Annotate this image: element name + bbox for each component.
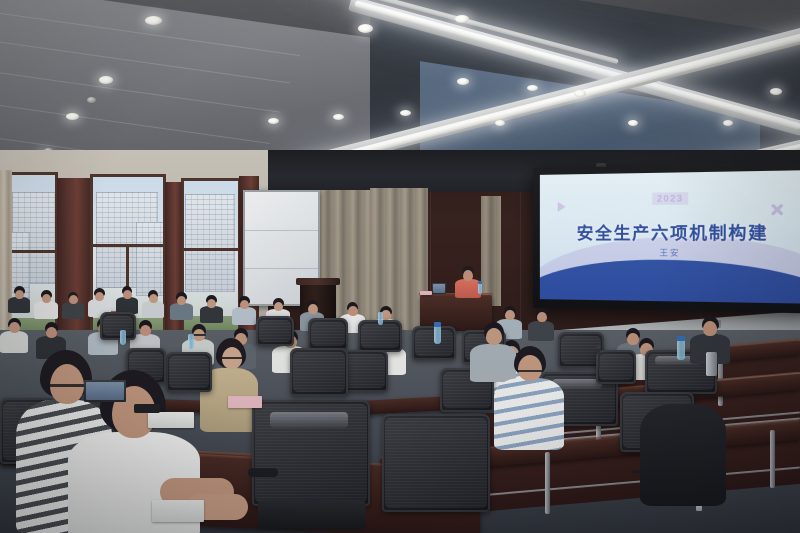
slide-title: 安全生产六项机制构建 [577,218,769,244]
thermos-cup [706,352,717,376]
water-bottle [188,334,194,349]
attendee [34,290,58,318]
downlight-icon [145,16,162,25]
downlight-icon [527,85,538,91]
x-marker-icon [769,202,784,216]
desk-microphone [598,348,600,368]
downlight-icon [495,120,505,126]
office-chair[interactable] [596,350,636,384]
attendee [0,318,28,352]
water-bottle [478,283,482,294]
paper [148,412,194,428]
water-bottle [677,340,685,360]
office-chair[interactable] [290,348,348,396]
attendee [8,286,30,312]
downlight-icon [457,78,469,85]
glasses-icon [221,357,243,359]
curtain [481,196,501,306]
paper [152,500,204,522]
projection-screen: 2023 安全生产六项机制构建 王安 [533,162,800,313]
office-chair[interactable] [252,400,370,506]
attendee [528,308,554,340]
slide-canvas: 2023 安全生产六项机制构建 王安 [540,170,800,304]
triangle-marker-icon [558,202,566,212]
glasses-icon [517,370,543,372]
downlight-icon [770,88,782,95]
downlight-icon [455,15,469,23]
attendee [232,296,256,324]
slide-author: 王安 [660,247,681,259]
downlight-icon [333,114,344,120]
downlight-icon [66,113,79,120]
downlight-icon [358,24,373,33]
smartphone [134,404,160,413]
downlight-icon [268,118,279,124]
conference-room-photo: 2023 安全生产六项机制构建 王安 [0,0,800,533]
office-chair[interactable] [256,316,294,346]
attendee [142,290,164,317]
paper [228,396,262,408]
downlight-icon [574,90,586,97]
downlight-icon [400,110,411,116]
office-chair[interactable] [308,318,348,350]
paper [420,291,432,295]
attendee [640,384,726,504]
slide-year-badge: 2023 [652,192,689,205]
attendee [62,292,84,318]
attendee [200,295,223,322]
smoke-detector-icon [87,97,96,103]
attendee [494,346,564,446]
lectern-top [296,278,340,285]
downlight-icon [99,76,113,84]
water-bottle [120,330,126,345]
office-chair[interactable] [382,414,490,512]
attendee [116,286,138,313]
downlight-icon [628,120,638,126]
attendee [170,292,193,319]
water-bottle [434,326,441,344]
office-chair[interactable] [100,312,136,340]
downlight-icon [723,120,733,126]
water-bottle [378,312,383,325]
